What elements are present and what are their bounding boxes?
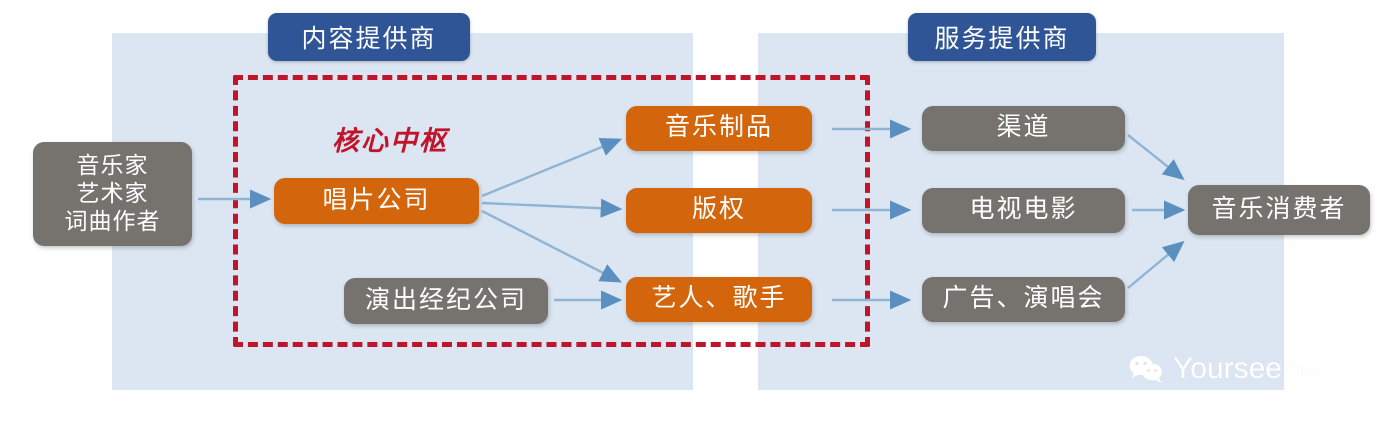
node-ads-concerts: 广告、演唱会 bbox=[922, 277, 1125, 322]
node-copyright: 版权 bbox=[626, 188, 812, 233]
header-service-provider: 服务提供商 bbox=[908, 13, 1096, 61]
node-booking-agency: 演出经纪公司 bbox=[344, 278, 548, 324]
creators-line-3: 词曲作者 bbox=[65, 208, 161, 236]
node-tv-film: 电视电影 bbox=[922, 188, 1125, 233]
node-channel: 渠道 bbox=[922, 106, 1125, 151]
node-record-label: 唱片公司 bbox=[274, 178, 479, 224]
node-music-products: 音乐制品 bbox=[626, 106, 812, 151]
creators-line-1: 音乐家 bbox=[77, 152, 149, 180]
node-music-consumers: 音乐消费者 bbox=[1188, 185, 1370, 235]
creators-line-2: 艺术家 bbox=[77, 180, 149, 208]
watermark: Yourseeker bbox=[1128, 352, 1324, 386]
diagram-canvas: 内容提供商 服务提供商 核心中枢 bbox=[0, 0, 1397, 427]
node-creators: 音乐家 艺术家 词曲作者 bbox=[33, 142, 192, 246]
watermark-text: Yourseeker bbox=[1173, 352, 1324, 386]
core-hub-annotation: 核心中枢 bbox=[332, 119, 448, 158]
node-artists-singers: 艺人、歌手 bbox=[626, 277, 812, 322]
wechat-icon bbox=[1128, 354, 1164, 384]
header-content-provider: 内容提供商 bbox=[268, 13, 470, 61]
